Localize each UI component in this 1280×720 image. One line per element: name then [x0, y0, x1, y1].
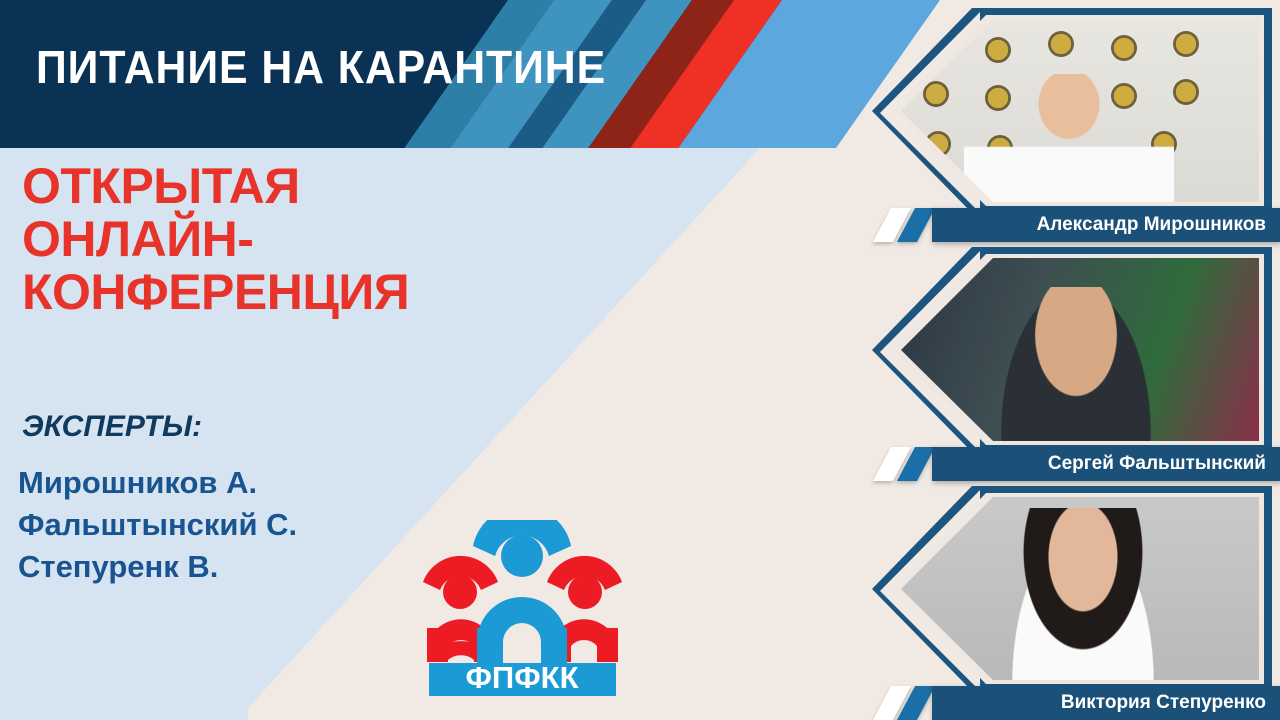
headline-line-2: ОНЛАЙН- — [22, 213, 542, 266]
experts-list: Мирошников А. Фальштынский С. Степуренк … — [18, 462, 297, 588]
speaker-name-plate-1: Александр Мирошников — [932, 208, 1280, 242]
doctor-figure — [964, 74, 1174, 202]
woman-with-headset-figure — [1003, 508, 1163, 680]
expert-name-3: Степуренк В. — [18, 546, 297, 588]
fpfkk-logo-graphic: ФПФКК — [415, 520, 630, 705]
speaker-photo-2 — [893, 258, 1259, 441]
speaker-photo-3-image — [893, 497, 1259, 680]
speaker-name-1: Александр Мирошников — [1037, 214, 1266, 236]
speaker-name-plate-2: Сергей Фальштынский — [932, 447, 1280, 481]
fpfkk-logo-text: ФПФКК — [465, 660, 578, 695]
bearded-man-figure — [1001, 287, 1151, 441]
page-title: ПИТАНИЕ НА КАРАНТИНЕ — [36, 40, 606, 94]
poster-canvas: ПИТАНИЕ НА КАРАНТИНЕ ОТКРЫТАЯ ОНЛАЙН- КО… — [0, 0, 1280, 720]
speaker-name-3: Виктория Степуренко — [1061, 692, 1266, 714]
speaker-name-2: Сергей Фальштынский — [1048, 453, 1266, 475]
experts-label: ЭКСПЕРТЫ: — [22, 410, 202, 444]
expert-name-2: Фальштынский С. — [18, 504, 297, 546]
fpfkk-logo: ФПФКК — [415, 520, 630, 705]
speaker-photo-2-image — [893, 258, 1259, 441]
headline-line-3: КОНФЕРЕНЦИЯ — [22, 266, 542, 319]
expert-name-1: Мирошников А. — [18, 462, 297, 504]
speaker-name-plate-3: Виктория Степуренко — [932, 686, 1280, 720]
speaker-photo-3 — [893, 497, 1259, 680]
headline: ОТКРЫТАЯ ОНЛАЙН- КОНФЕРЕНЦИЯ — [22, 160, 542, 319]
headline-line-1: ОТКРЫТАЯ — [22, 160, 542, 213]
